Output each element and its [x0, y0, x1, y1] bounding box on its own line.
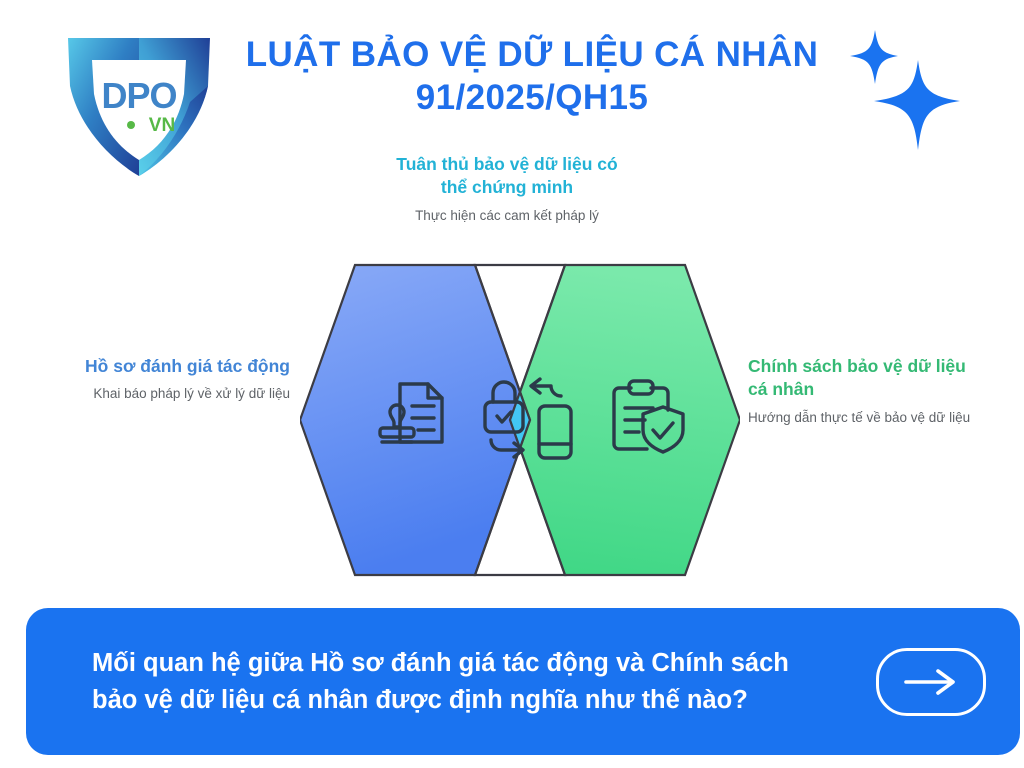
page-title-line2: 91/2025/QH15 — [232, 77, 832, 120]
page-title-line1: LUẬT BẢO VỆ DỮ LIỆU CÁ NHÂN — [246, 35, 819, 74]
hexagon-left — [300, 265, 530, 575]
infographic-canvas: DPO VN LUẬT BẢO VỆ DỮ LIỆU CÁ NHÂN 91/20… — [0, 0, 1024, 768]
logo-dot-icon — [127, 121, 135, 129]
sparkle-large-icon — [874, 60, 960, 150]
diagram-label-left-title: Hồ sơ đánh giá tác động — [58, 355, 290, 378]
sparkle-decoration — [836, 26, 976, 156]
diagram-label-top-subtitle: Thực hiện các cam kết pháp lý — [392, 207, 622, 225]
diagram-label-top-title: Tuân thủ bảo vệ dữ liệu có thể chứng min… — [392, 153, 622, 200]
question-banner-text: Mối quan hệ giữa Hồ sơ đánh giá tác động… — [92, 645, 792, 717]
diagram-label-left: Hồ sơ đánh giá tác động Khai báo pháp lý… — [58, 355, 290, 404]
question-banner: Mối quan hệ giữa Hồ sơ đánh giá tác động… — [26, 608, 1020, 755]
sparkle-small-icon — [850, 30, 898, 84]
logo-secondary-text: VN — [149, 115, 175, 136]
logo-primary-text: DPO — [101, 75, 176, 116]
page-title: LUẬT BẢO VỆ DỮ LIỆU CÁ NHÂN 91/2025/QH15 — [232, 34, 832, 119]
arrow-right-icon — [903, 668, 959, 696]
next-arrow-button[interactable] — [876, 648, 986, 716]
venn-diagram: Tuân thủ bảo vệ dữ liệu có thể chứng min… — [0, 145, 1024, 595]
diagram-label-left-subtitle: Khai báo pháp lý về xử lý dữ liệu — [58, 385, 290, 403]
diagram-label-right: Chính sách bảo vệ dữ liệu cá nhân Hướng … — [748, 355, 978, 427]
diagram-label-right-subtitle: Hướng dẫn thực tế về bảo vệ dữ liệu — [748, 409, 978, 427]
hexagon-group — [300, 260, 740, 580]
diagram-label-right-title: Chính sách bảo vệ dữ liệu cá nhân — [748, 355, 978, 402]
diagram-label-top: Tuân thủ bảo vệ dữ liệu có thể chứng min… — [392, 153, 622, 225]
